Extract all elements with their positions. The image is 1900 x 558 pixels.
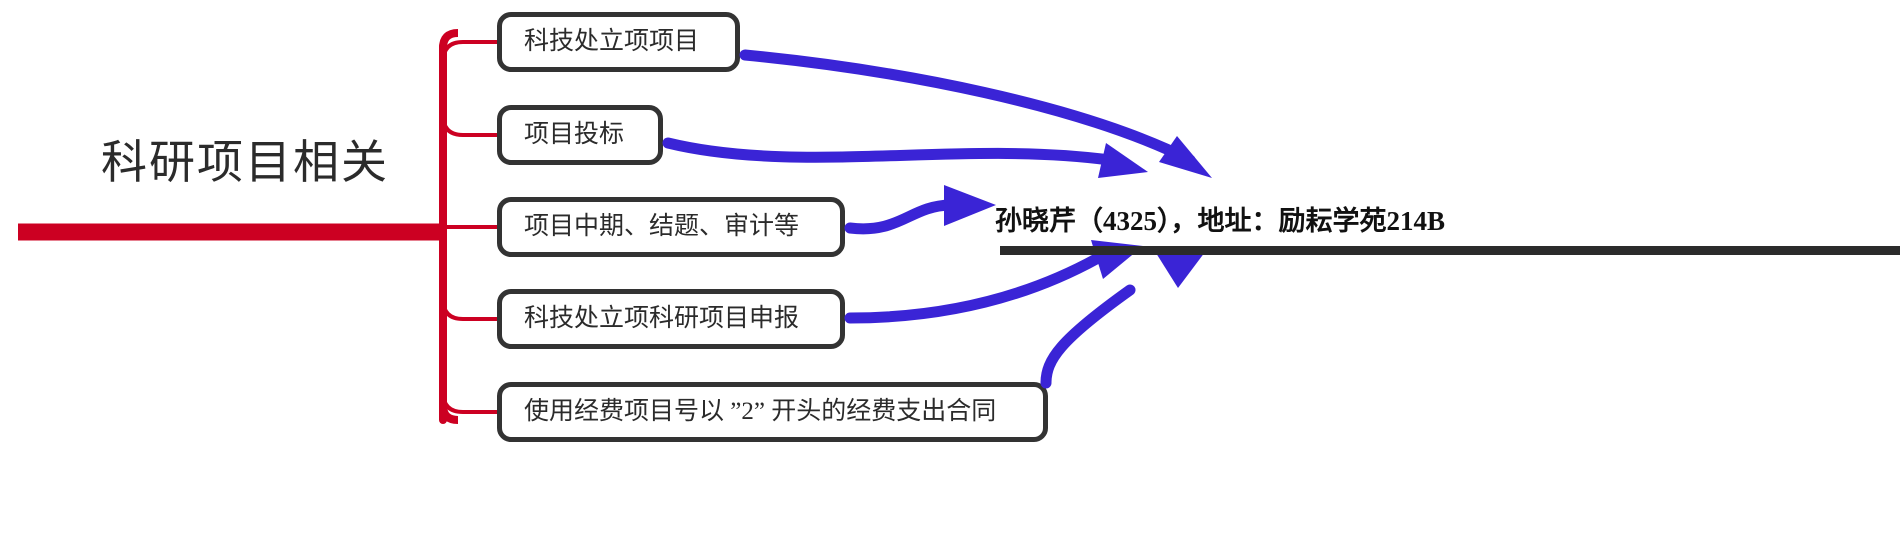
root-title: 科研项目相关: [60, 133, 430, 193]
branch-layer: [0, 0, 1900, 558]
branch-connector-0: [443, 42, 497, 62]
node-keyan-xiangmu-shenbao[interactable]: 科技处立项科研项目申报: [497, 289, 845, 349]
contact-underline: [1000, 246, 1900, 255]
node-label: 科技处立项科研项目申报: [524, 304, 799, 334]
node-zhongqi-jieti-shenji[interactable]: 项目中期、结题、审计等: [497, 197, 845, 257]
node-label: 科技处立项项目: [524, 27, 699, 57]
node-label: 项目投标: [524, 120, 624, 150]
branch-connector-1: [443, 115, 497, 135]
node-label: 使用经费项目号以 ”2” 开头的经费支出合同: [524, 397, 996, 427]
node-jingfei-zhichu-hetong[interactable]: 使用经费项目号以 ”2” 开头的经费支出合同: [497, 382, 1048, 442]
branch-connector-3: [443, 299, 497, 319]
branch-connector-4: [443, 392, 497, 412]
contact-info-text: 孙晓芹（4325），地址：励耘学苑214B: [995, 198, 1445, 244]
node-label: 项目中期、结题、审计等: [524, 212, 799, 242]
node-xiangmu-toubiao[interactable]: 项目投标: [497, 105, 663, 165]
node-kejichu-lixiang-xiangmu[interactable]: 科技处立项项目: [497, 12, 740, 72]
mindmap-canvas: 科研项目相关 科技处立项项目 项目投标 项目中期、结题、审计等 科技处立项科研项…: [0, 0, 1900, 558]
